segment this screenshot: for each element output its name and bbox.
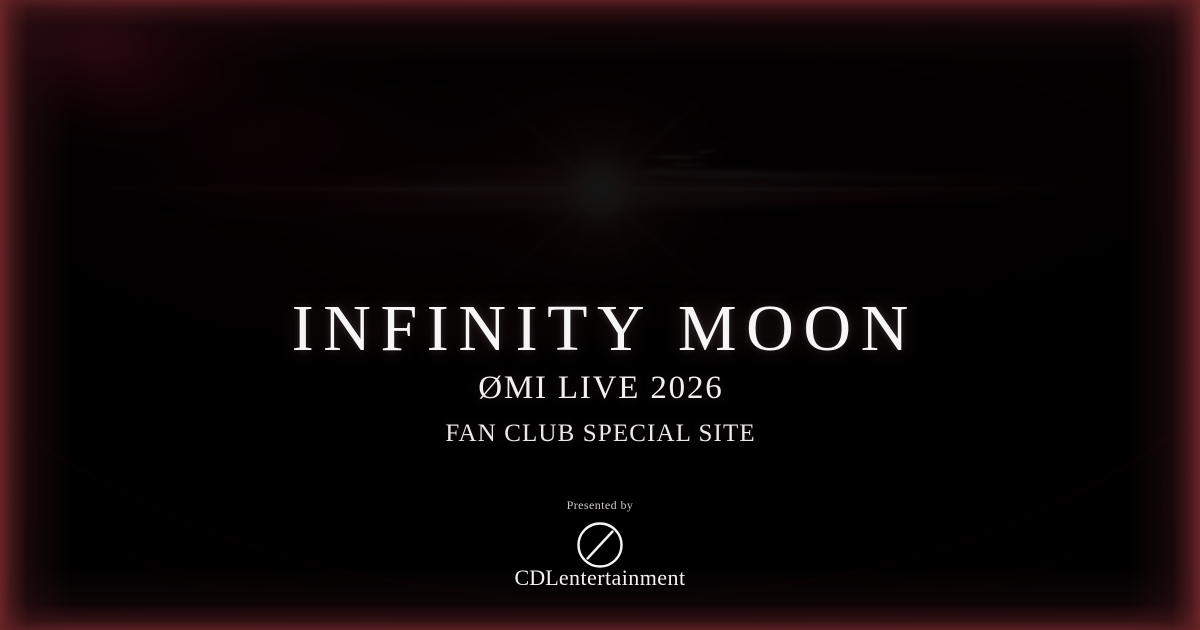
brand-wordmark: CDLentertainment bbox=[0, 565, 1200, 591]
brand-name-secondary: entertainment bbox=[559, 565, 686, 590]
fan-club-key-visual: INFINITY MOON ØMI LIVE 2026 FAN CLUB SPE… bbox=[0, 0, 1200, 630]
presented-by-label: Presented by bbox=[0, 498, 1200, 513]
page-title: INFINITY MOON bbox=[0, 296, 1200, 362]
circle-slash-logo-icon bbox=[574, 519, 626, 571]
tour-subtitle: ØMI LIVE 2026 bbox=[0, 372, 1200, 405]
poster-content: INFINITY MOON ØMI LIVE 2026 FAN CLUB SPE… bbox=[0, 0, 1200, 630]
site-tagline: FAN CLUB SPECIAL SITE bbox=[0, 421, 1200, 446]
brand-name-primary: CDL bbox=[514, 565, 558, 590]
